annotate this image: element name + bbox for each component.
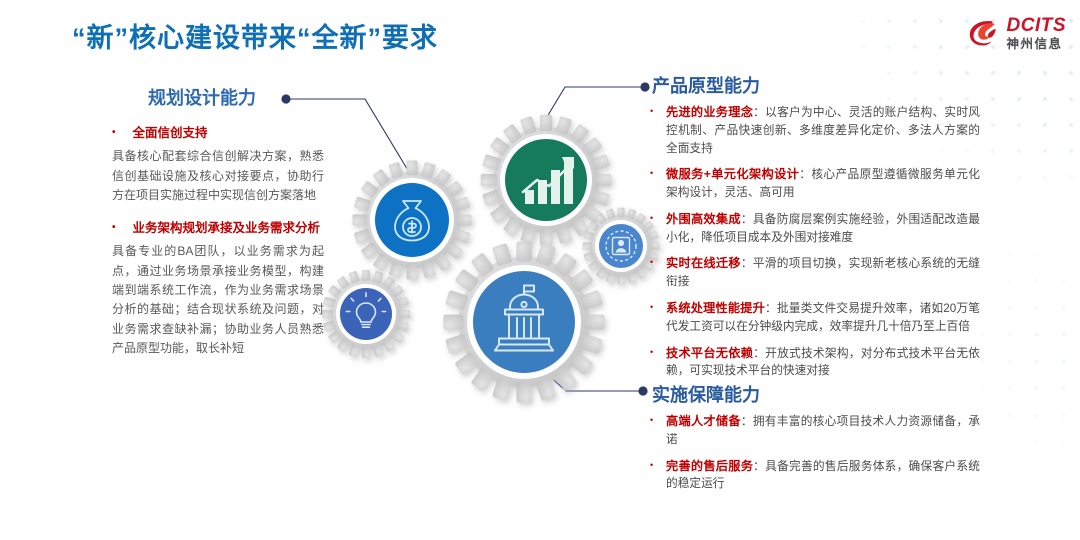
brand-name-en: DCITS — [1007, 16, 1067, 35]
list-item: • 完善的售后服务：具备完善的售后服务体系，确保客户系统的稳定运行 — [650, 457, 980, 494]
list-item-text: 微服务+单元化架构设计：核心产品原型遵循微服务单元化架构设计，灵活、高可用 — [666, 165, 980, 202]
left-block-1-title: 全面信创支持 — [125, 124, 208, 143]
section-heading-planning: 规划设计能力 — [148, 84, 256, 110]
list-item: • 技术平台无依赖：开放式技术架构，对分布式技术平台无依赖，可实现技术平台的快速… — [650, 344, 980, 381]
bullet-dot-icon: • — [112, 219, 116, 238]
list-item-text: 外围高效集成：具备防腐层案例实施经验，外围适配改造最小化，降低项目成本及外围对接… — [666, 210, 980, 247]
bar-chart-growth-icon — [523, 157, 574, 204]
list-item: • 微服务+单元化架构设计：核心产品原型遵循微服务单元化架构设计，灵活、高可用 — [650, 165, 980, 202]
page-title: “新”核心建设带来“全新”要求 — [72, 16, 438, 55]
list-item: • 系统处理性能提升：批量类文件交易提升效率，诸如20万笔代发工资可以在分钟级内… — [650, 299, 980, 336]
right-content-column-prototype: • 先进的业务理念：以客户为中心、灵活的账户结构、实时风控机制、产品快速创新、多… — [650, 103, 980, 388]
bullet-dot-icon: • — [650, 210, 656, 247]
slide-canvas: “新”核心建设带来“全新”要求 DCITS 神州信息 — [0, 0, 1080, 540]
list-item-text: 先进的业务理念：以客户为中心、灵活的账户结构、实时风控机制、产品快速创新、多维度… — [666, 103, 980, 157]
list-item: • 先进的业务理念：以客户为中心、灵活的账户结构、实时风控机制、产品快速创新、多… — [650, 103, 980, 157]
bank-building-gear — [443, 241, 604, 402]
list-item-text: 实时在线迁移：平滑的项目切换，实现新老核心系统的无缝衔接 — [666, 254, 980, 291]
list-item-text: 技术平台无依赖：开放式技术架构，对分布式技术平台无依赖，可实现技术平台的快速对接 — [666, 344, 980, 381]
connector-dot-right-top — [640, 82, 649, 91]
list-item: • 实时在线迁移：平滑的项目切换，实现新老核心系统的无缝衔接 — [650, 254, 980, 291]
left-block-1-body: 具备核心配套综合信创解决方案，熟悉信创基础设施及核心对接要点，协助行方在项目实施… — [112, 147, 324, 205]
list-item-text: 高端人才储备：拥有丰富的核心项目技术人力资源储备，承诺 — [666, 412, 980, 449]
bullet-dot-icon: • — [650, 457, 656, 494]
bullet-dot-icon: • — [650, 344, 656, 381]
section-heading-prototype: 产品原型能力 — [652, 72, 760, 98]
money-bag-icon — [395, 201, 429, 241]
bullet-dot-icon: • — [112, 124, 116, 143]
connector-dot-right-bottom — [638, 386, 647, 395]
bullet-dot-icon: • — [650, 103, 656, 157]
left-block-2-body: 具备专业的BA团队，以业务需求为起点，通过业务场景承接业务模型，构建端到端系统工… — [112, 242, 324, 359]
bullet-dot-icon: • — [650, 254, 656, 291]
brand-name-cn: 神州信息 — [1007, 38, 1067, 51]
left-block-2-title: 业务架构规划承接及业务需求分析 — [125, 219, 321, 238]
left-content-column: • 全面信创支持 具备核心配套综合信创解决方案，熟悉信创基础设施及核心对接要点，… — [112, 124, 324, 372]
brand-logo: DCITS 神州信息 — [967, 16, 1067, 51]
growth-chart-gear — [481, 115, 612, 246]
left-block-1: • 全面信创支持 具备核心配套综合信创解决方案，熟悉信创基础设施及核心对接要点，… — [112, 124, 324, 206]
left-block-1-title-row: • 全面信创支持 — [112, 124, 324, 143]
list-item-text: 系统处理性能提升：批量类文件交易提升效率，诸如20万笔代发工资可以在分钟级内完成… — [666, 299, 980, 336]
bullet-dot-icon: • — [650, 299, 656, 336]
person-badge-icon — [606, 231, 636, 261]
swirl-logo-icon — [967, 18, 1001, 48]
bullet-dot-icon: • — [650, 412, 656, 449]
connector-dot-left — [281, 94, 290, 103]
right-content-column-delivery: • 高端人才储备：拥有丰富的核心项目技术人力资源储备，承诺 • 完善的售后服务：… — [650, 412, 980, 501]
list-item: • 高端人才储备：拥有丰富的核心项目技术人力资源储备，承诺 — [650, 412, 980, 449]
lightbulb-gear — [322, 270, 410, 358]
list-item: • 外围高效集成：具备防腐层案例实施经验，外围适配改造最小化，降低项目成本及外围… — [650, 210, 980, 247]
money-bag-gear — [352, 160, 471, 279]
bank-building-icon — [495, 286, 553, 351]
bullet-dot-icon: • — [650, 165, 656, 202]
left-block-2: • 业务架构规划承接及业务需求分析 具备专业的BA团队，以业务需求为起点，通过业… — [112, 219, 324, 359]
left-block-2-title-row: • 业务架构规划承接及业务需求分析 — [112, 219, 324, 238]
list-item-text: 完善的售后服务：具备完善的售后服务体系，确保客户系统的稳定运行 — [666, 457, 980, 494]
lightbulb-icon — [346, 293, 385, 327]
person-badge-gear — [583, 208, 660, 285]
